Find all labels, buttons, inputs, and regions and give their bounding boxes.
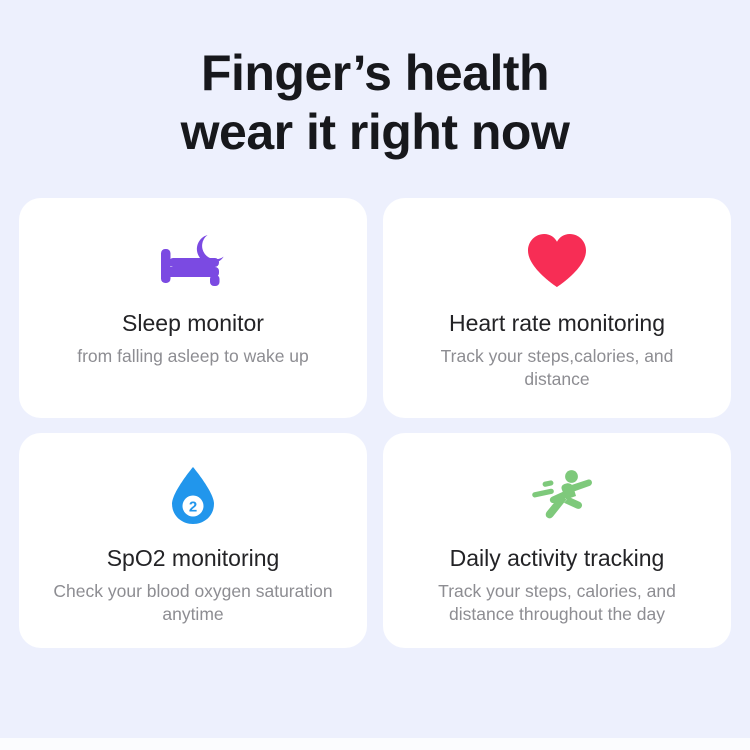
card-title: SpO2 monitoring (95, 545, 292, 573)
card-subtitle: Track your steps, calories, and distance… (391, 580, 723, 626)
bed-moon-icon (155, 228, 231, 294)
running-person-icon (522, 463, 592, 529)
heart-icon (525, 228, 589, 294)
feature-card-spo2[interactable]: 2 SpO2 monitoring Check your blood oxyge… (19, 433, 367, 648)
feature-card-heart-rate[interactable]: Heart rate monitoring Track your steps,c… (383, 198, 731, 418)
card-subtitle: Check your blood oxygen saturation anyti… (27, 580, 359, 626)
card-subtitle: Track your steps,calories, and distance (391, 345, 723, 391)
card-title: Daily activity tracking (438, 545, 677, 573)
card-title: Sleep monitor (110, 310, 276, 338)
feature-card-sleep-monitor[interactable]: Sleep monitor from falling asleep to wak… (19, 198, 367, 418)
page-title-line-2: wear it right now (65, 103, 685, 162)
drop-number-label: 2 (189, 499, 197, 516)
promo-page: Finger’s health wear it right now (0, 0, 750, 738)
water-drop-o2-icon: 2 (166, 463, 220, 529)
feature-card-grid: Sleep monitor from falling asleep to wak… (19, 198, 731, 648)
page-title-line-1: Finger’s health (65, 44, 685, 103)
feature-card-daily-activity[interactable]: Daily activity tracking Track your steps… (383, 433, 731, 648)
bottom-edge-strip (0, 738, 750, 750)
card-title: Heart rate monitoring (437, 310, 677, 338)
page-title: Finger’s health wear it right now (65, 44, 685, 162)
card-subtitle: from falling asleep to wake up (61, 345, 325, 368)
